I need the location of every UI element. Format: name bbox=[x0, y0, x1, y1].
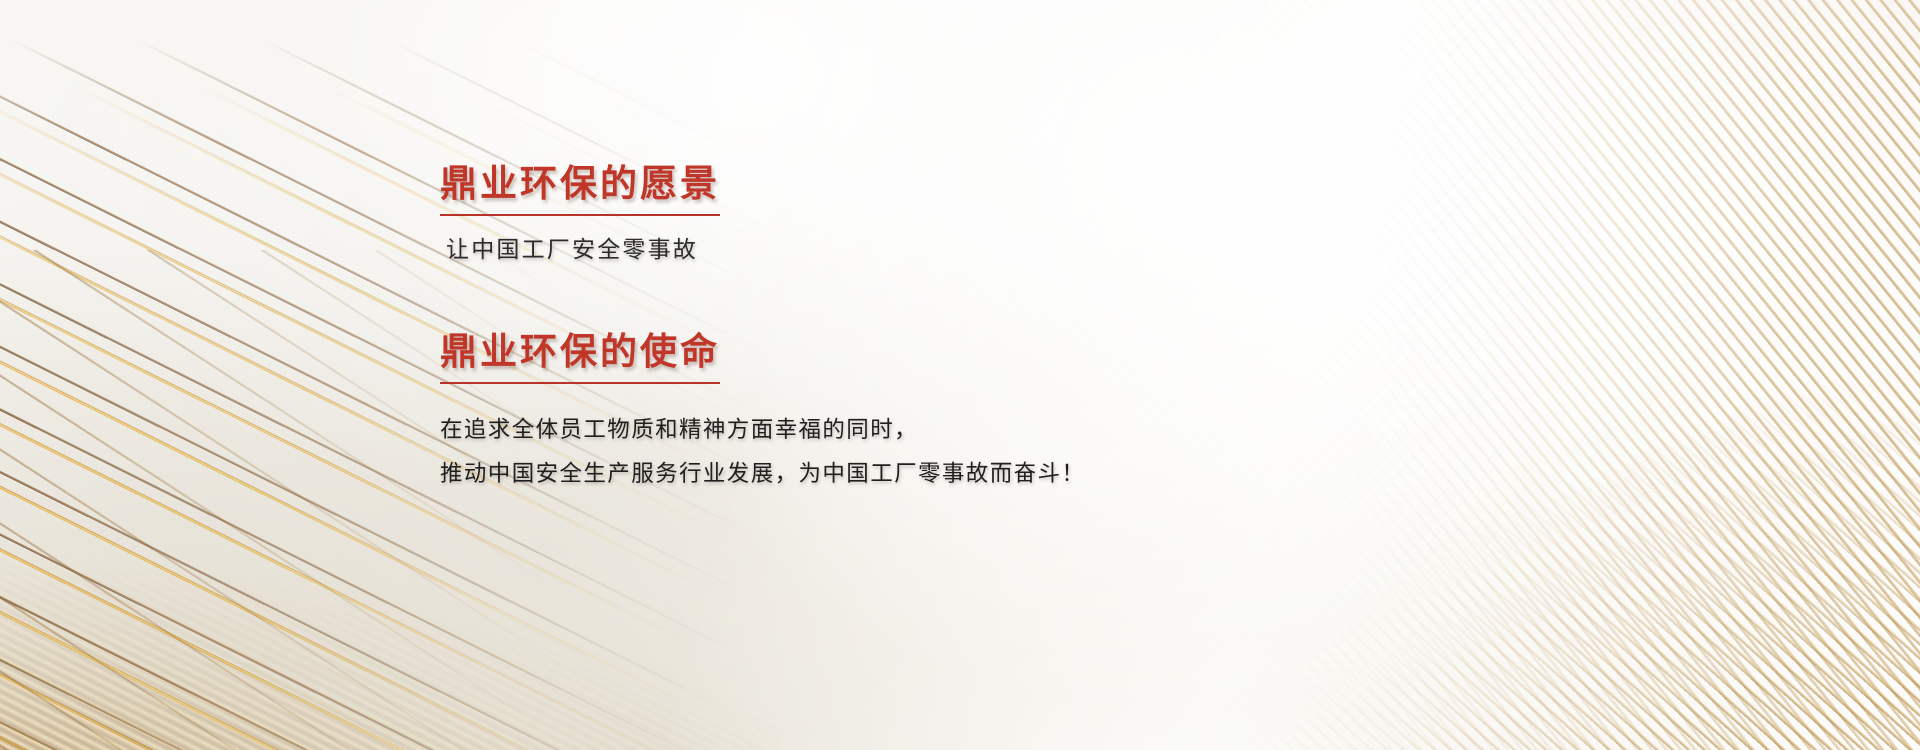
vision-subtitle: 让中国工厂安全零事故 bbox=[446, 233, 1340, 268]
vision-heading: 鼎业环保的愿景 bbox=[440, 160, 720, 216]
mission-body-line-1: 在追求全体员工物质和精神方面幸福的同时， bbox=[440, 409, 1340, 453]
brand-vision-mission-banner: 鼎业环保的愿景 让中国工厂安全零事故 鼎业环保的使命 在追求全体员工物质和精神方… bbox=[0, 0, 1920, 750]
mission-heading: 鼎业环保的使命 bbox=[440, 328, 720, 384]
mission-block: 鼎业环保的使命 在追求全体员工物质和精神方面幸福的同时， 推动中国安全生产服务行… bbox=[440, 328, 1340, 497]
vision-block: 鼎业环保的愿景 让中国工厂安全零事故 bbox=[440, 160, 1340, 268]
banner-content: 鼎业环保的愿景 让中国工厂安全零事故 鼎业环保的使命 在追求全体员工物质和精神方… bbox=[440, 160, 1340, 497]
mission-body: 在追求全体员工物质和精神方面幸福的同时， 推动中国安全生产服务行业发展，为中国工… bbox=[440, 409, 1340, 497]
mission-body-line-2: 推动中国安全生产服务行业发展，为中国工厂零事故而奋斗！ bbox=[440, 453, 1340, 497]
